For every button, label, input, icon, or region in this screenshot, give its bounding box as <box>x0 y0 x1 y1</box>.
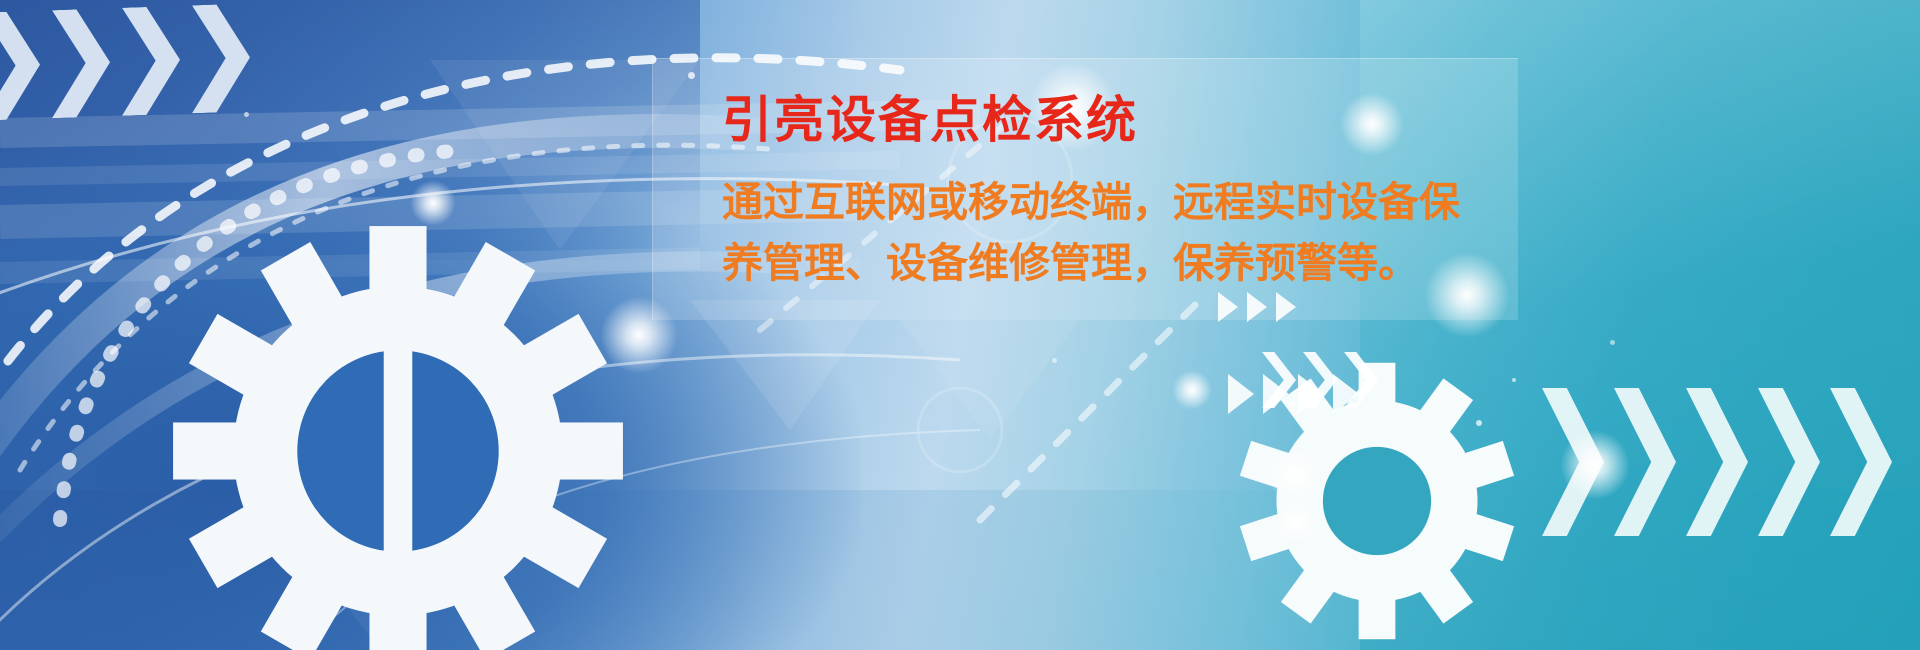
chevron-right-icon <box>1686 388 1748 536</box>
promo-banner: 引亮设备点检系统 通过互联网或移动终端，远程实时设备保 养管理、设备维修管理，保… <box>0 0 1920 650</box>
dot-decoration <box>1610 340 1615 345</box>
chevron-right-icon <box>0 11 40 121</box>
ring-decoration <box>918 388 1002 472</box>
page-subtitle-line-2: 养管理、设备维修管理，保养预警等。 <box>722 233 1512 294</box>
chevron-right-icon <box>192 3 250 113</box>
page-title: 引亮设备点检系统 <box>722 92 1138 148</box>
chevron-right-icon <box>1542 388 1604 536</box>
page-subtitle: 通过互联网或移动终端，远程实时设备保 养管理、设备维修管理，保养预警等。 <box>722 172 1512 293</box>
chevron-right-icon-group-top-left <box>0 3 250 120</box>
triangle-right-icon-group-lower <box>1228 374 1359 414</box>
dot-decoration <box>244 112 249 117</box>
triangle-right-icon <box>1298 374 1324 414</box>
triangle-right-icon <box>1228 374 1254 414</box>
dot-decoration <box>1052 358 1057 363</box>
dot-decoration <box>1476 420 1482 426</box>
page-subtitle-line-1: 通过互联网或移动终端，远程实时设备保 <box>722 172 1512 233</box>
facet-shard-decoration <box>900 320 1080 440</box>
dot-decoration <box>1290 402 1295 407</box>
chevron-right-icon <box>52 8 110 118</box>
triangle-right-icon <box>1263 374 1289 414</box>
chevron-right-icon-group-bottom-right <box>1542 388 1892 536</box>
triangle-right-icon <box>1333 374 1359 414</box>
gear-icon <box>118 216 678 650</box>
dashed-line-decoration <box>980 300 1200 520</box>
sparkle-glow <box>1172 370 1212 410</box>
chevron-right-icon <box>1614 388 1676 536</box>
chevron-right-icon <box>1830 388 1892 536</box>
chevron-right-icon <box>1758 388 1820 536</box>
dot-decoration <box>1512 378 1516 382</box>
chevron-right-icon <box>122 6 180 116</box>
